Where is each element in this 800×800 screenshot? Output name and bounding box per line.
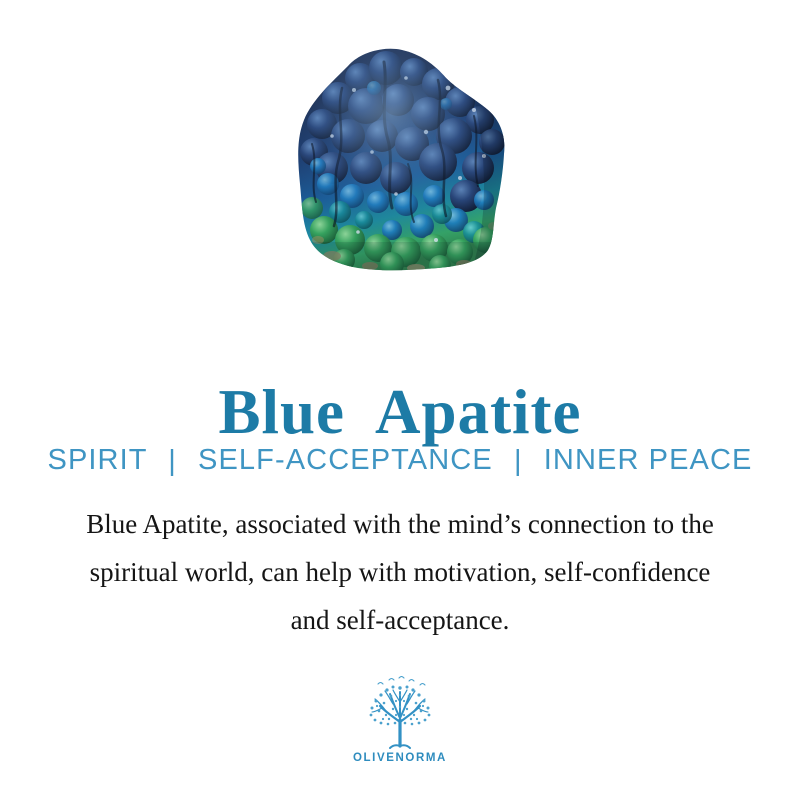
keyword-spirit: SPIRIT [48, 444, 148, 476]
brand-logo: OLIVENORMA [0, 676, 800, 764]
keyword-self-acceptance: SELF-ACCEPTANCE [198, 444, 493, 476]
description-line: spiritual world, can help with motivatio… [40, 548, 760, 596]
tree-of-life-icon [362, 676, 438, 750]
description-text: Blue Apatite, associated with the mind’s… [40, 500, 760, 644]
keyword-list: SPIRIT | SELF-ACCEPTANCE | INNER PEACE [0, 443, 800, 477]
page-title: Blue Apatite [0, 376, 800, 448]
brand-name: OLIVENORMA [353, 752, 447, 764]
keyword-inner-peace: INNER PEACE [544, 444, 753, 476]
crystal-image [288, 44, 516, 278]
crystal-specimen-illustration [288, 44, 516, 278]
description-line: and self-acceptance. [40, 596, 760, 644]
keyword-separator: | [168, 444, 177, 478]
keyword-separator: | [514, 444, 523, 478]
description-line: Blue Apatite, associated with the mind’s… [40, 500, 760, 548]
crystal-info-card: Blue Apatite SPIRIT | SELF-ACCEPTANCE | … [0, 0, 800, 800]
